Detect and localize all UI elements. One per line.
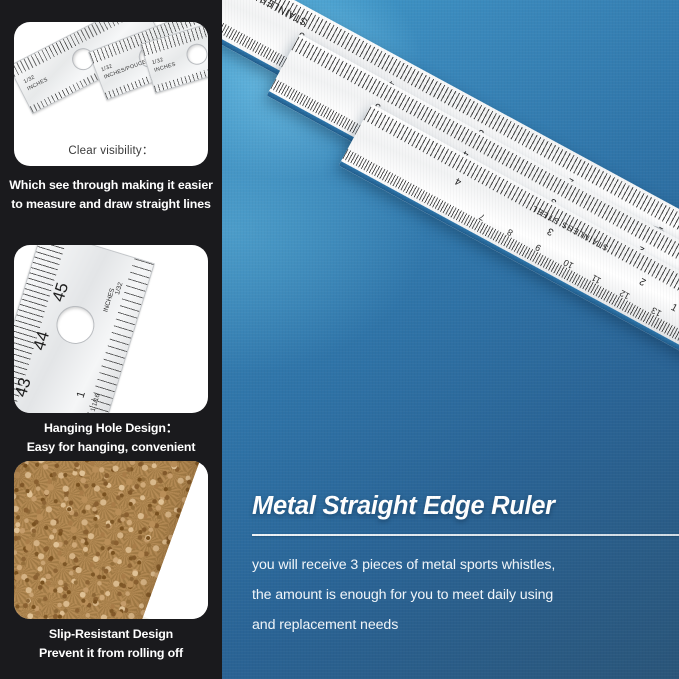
- feature-caption-slip-resistant: Slip-Resistant Design Prevent it from ro…: [4, 625, 218, 663]
- feature-card-slip-resistant: [14, 461, 208, 619]
- ruler-number: 45: [48, 280, 73, 304]
- feature-card-clear-visibility: INCHES 1/32 45 44 INCHES/POUCES 1/32 30: [14, 22, 208, 166]
- feature-caption-line-1: Which see through making it easier: [4, 176, 218, 195]
- ruler-scale-label: INCHES: [102, 288, 116, 314]
- ruler-inch-number: 2: [638, 275, 648, 287]
- hanging-hole: [184, 41, 208, 67]
- card-caption-clear-visibility: Clear visibility：: [14, 142, 208, 158]
- hero-description-line-3: and replacement needs: [252, 610, 672, 640]
- hanging-hole-photo: 45 44 43 42 1/32 INCHES 1 1 1/16 NB: [14, 245, 208, 413]
- cork-backing-photo: [14, 461, 208, 619]
- hero-description-line-2: the amount is enough for you to meet dai…: [252, 580, 672, 610]
- ruler-graphic-closeup: 45 44 43 42 1/32 INCHES 1 1 1/16 NB: [14, 245, 155, 413]
- feature-sidebar: INCHES 1/32 45 44 INCHES/POUCES 1/32 30: [0, 0, 222, 679]
- hero-description-line-1: you will receive 3 pieces of metal sport…: [252, 550, 672, 580]
- feature-block-hanging-hole: 45 44 43 42 1/32 INCHES 1 1 1/16 NB Hang…: [0, 233, 222, 453]
- cork-texture: [14, 461, 201, 619]
- hanging-hole: [52, 301, 99, 348]
- hero-panel: 5 4 3 2 1 1 1/16 NB24R-1B STAINLESS ST 3…: [222, 0, 679, 679]
- feature-block-clear-visibility: INCHES 1/32 45 44 INCHES/POUCES 1/32 30: [0, 0, 222, 233]
- title-divider: [252, 534, 679, 536]
- feature-caption-line-1: Slip-Resistant Design: [4, 625, 218, 644]
- ruler-inch-number: 3: [546, 225, 556, 237]
- ruler-mm-number: 9: [533, 242, 542, 253]
- ruler-fraction-mark: 1: [669, 302, 679, 314]
- product-feature-graphic: INCHES 1/32 45 44 INCHES/POUCES 1/32 30: [0, 0, 679, 679]
- ruler-inch-number: 4: [453, 175, 463, 187]
- hero-text-block: Metal Straight Edge Ruler you will recei…: [252, 492, 672, 640]
- ruler-mm-number: 7: [477, 212, 486, 223]
- hero-description: you will receive 3 pieces of metal sport…: [252, 550, 672, 640]
- ruler-fraction-mark: 1: [75, 390, 88, 399]
- feature-card-hanging-hole: 45 44 43 42 1/32 INCHES 1 1 1/16 NB: [14, 245, 208, 413]
- ruler-mm-number: 8: [505, 227, 514, 238]
- feature-caption-line-1: Hanging Hole Design：: [4, 419, 218, 438]
- feature-block-slip-resistant: Slip-Resistant Design Prevent it from ro…: [0, 453, 222, 679]
- page-title: Metal Straight Edge Ruler: [252, 492, 672, 521]
- feature-caption-line-2: to measure and draw straight lines: [4, 195, 218, 214]
- ruler-material-text: STAINLESS ST: [237, 0, 310, 27]
- feature-caption-clear-visibility: Which see through making it easier to me…: [4, 176, 218, 214]
- feature-caption-line-2: Prevent it from rolling off: [4, 644, 218, 663]
